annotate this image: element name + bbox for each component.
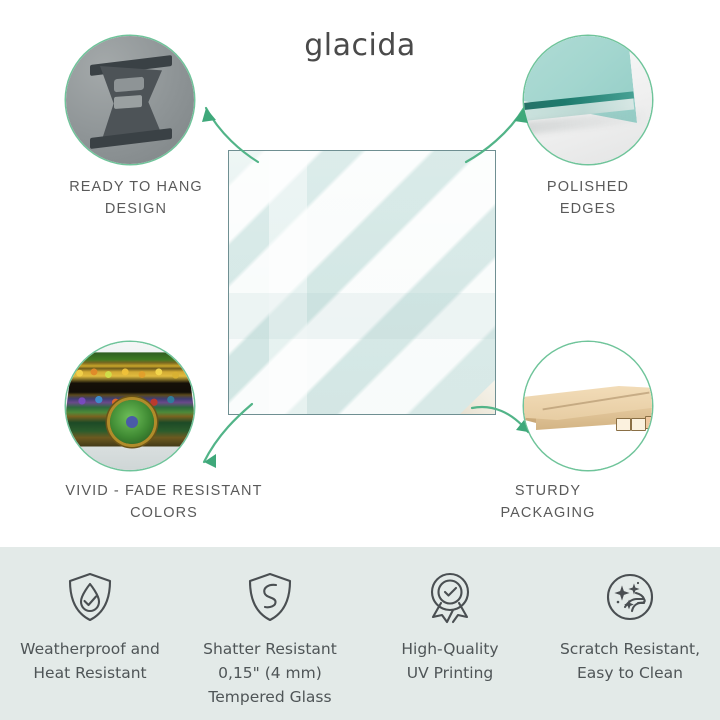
feature-caption-polished-edges: POLISHED EDGES [478,176,698,221]
hanging-bracket-photo [66,36,194,164]
spec-label-shatter-resistant: Shatter Resistant 0,15" (4 mm) Tempered … [203,637,337,709]
shield-bolt-icon [242,569,298,625]
sparkle-wipe-hand-icon [602,569,658,625]
spec-weatherproof: Weatherproof and Heat Resistant [5,569,175,685]
spec-shatter-resistant: Shatter Resistant 0,15" (4 mm) Tempered … [185,569,355,709]
spec-scratch-resistant: Scratch Resistant, Easy to Clean [545,569,715,685]
product-glass-panel [228,150,496,415]
shield-droplet-check-icon [62,569,118,625]
feature-thumb-polished-edges [524,36,652,164]
feature-thumb-ready-to-hang [66,36,194,164]
product-infographic: glacida READY TO HANG DESIGN POLISHED ED… [0,0,720,720]
cardboard-box-photo [524,342,652,470]
spec-bar: Weatherproof and Heat Resistant Shatter … [0,547,720,720]
feature-caption-sturdy-packaging: STURDY PACKAGING [444,480,652,525]
award-ribbon-check-icon [422,569,478,625]
feature-caption-vivid-colors: VIVID - FADE RESISTANT COLORS [18,480,310,525]
glass-highlight-vertical [269,151,307,414]
spec-label-weatherproof: Weatherproof and Heat Resistant [20,637,160,685]
glass-highlight-horizontal [229,293,495,339]
glass-corner-fold [459,379,496,415]
spec-uv-printing: High-Quality UV Printing [365,569,535,685]
spec-label-uv-printing: High-Quality UV Printing [401,637,498,685]
vivid-artwork-photo [66,342,194,470]
polished-edge-photo [524,36,652,164]
feature-thumb-vivid-colors [66,342,194,470]
feature-thumb-sturdy-packaging [524,342,652,470]
feature-caption-ready-to-hang: READY TO HANG DESIGN [20,176,252,221]
spec-label-scratch-resistant: Scratch Resistant, Easy to Clean [560,637,700,685]
